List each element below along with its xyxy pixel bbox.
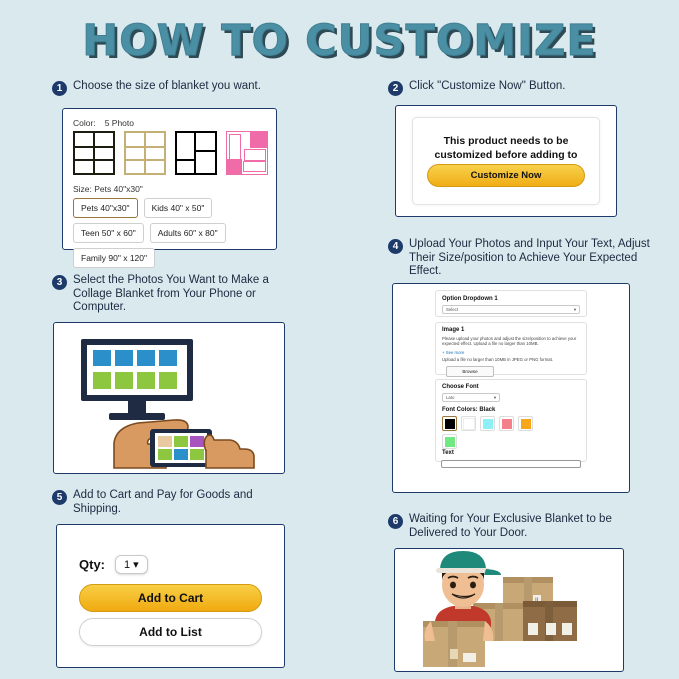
chevron-down-icon: ▾ [133,558,139,571]
size-option-pets[interactable]: Pets 40"x30" [73,198,138,218]
font-color-swatches-row2 [442,434,457,449]
step-6-text: Waiting for Your Exclusive Blanket to be… [409,513,650,540]
step-1-card: Color: 5 Photo [62,108,277,250]
step-4-heading: 4 Upload Your Photos and Input Your Text… [388,238,656,279]
step-2-card: This product needs to be customized befo… [395,105,617,217]
qty-stepper[interactable]: 1 ▾ [115,555,148,574]
font-value: Lato [446,395,454,400]
option-dropdown-block: Option Dropdown 1 Select ▾ [435,290,587,317]
font-settings-block: Choose Font Lato ▾ Font Colors: Black Te… [435,379,587,462]
swatch-green[interactable] [442,434,457,449]
step-3-heading: 3 Select the Photos You Want to Make a C… [52,274,297,315]
qty-label: Qty: [79,557,105,572]
font-colors-label: Font Colors: Black [442,407,495,413]
color-label: Color: [73,118,96,128]
image-description: Please upload your photos and adjust the… [442,336,580,347]
step-5-card: Qty: 1 ▾ Add to Cart Add to List [56,524,285,668]
pattern-thumbnail-4[interactable] [226,131,268,175]
step-1-badge: 1 [52,81,67,96]
chevron-down-icon: ▾ [494,395,496,401]
step-6-badge: 6 [388,514,403,529]
step-4-badge: 4 [388,239,403,254]
size-option-teen[interactable]: Teen 50" x 60" [73,223,144,243]
chevron-down-icon: ▾ [574,307,576,313]
size-label: Size: Pets 40"x30" [73,184,143,194]
infographic-page: HOW TO CUSTOMIZE 1 Choose the size of bl… [0,0,679,679]
add-to-cart-button[interactable]: Add to Cart [79,584,262,612]
swatch-black[interactable] [442,416,457,431]
font-color-swatches-row1 [442,416,533,431]
customize-notice-box: This product needs to be customized befo… [412,117,600,205]
option-dropdown-value: Select [446,307,458,312]
option-dropdown-label: Option Dropdown 1 [442,296,498,302]
color-row: Color: 5 Photo [73,118,134,128]
page-title: HOW TO CUSTOMIZE [0,16,679,66]
step-4-text: Upload Your Photos and Input Your Text, … [409,238,656,279]
step-5-badge: 5 [52,490,67,505]
swatch-orange[interactable] [518,416,533,431]
pattern-thumbnail-2[interactable] [124,131,166,175]
size-option-adults[interactable]: Adults 60" x 80" [150,223,226,243]
size-option-family[interactable]: Family 90" x 120" [73,248,155,268]
step-6-card: II [394,548,624,672]
quantity-row: Qty: 1 ▾ [79,555,148,574]
add-to-list-button[interactable]: Add to List [79,618,262,646]
swatch-pink[interactable] [499,416,514,431]
color-value: 5 Photo [105,118,134,128]
qty-value: 1 [124,559,130,571]
image-upload-block: Image 1 Please upload your photos and ad… [435,322,587,375]
pattern-thumbnail-3[interactable] [175,131,217,175]
step-2-heading: 2 Click "Customize Now" Button. [388,80,658,96]
font-select[interactable]: Lato ▾ [442,393,500,402]
size-options: Pets 40"x30" Kids 40" x 50" Teen 50" x 6… [73,198,269,268]
step-1-text: Choose the size of blanket you want. [73,80,261,94]
photo-selection-illustration [54,323,284,473]
step-3-badge: 3 [52,275,67,290]
swatch-cyan[interactable] [480,416,495,431]
step-2-badge: 2 [388,81,403,96]
text-input[interactable] [441,460,581,468]
size-option-kids[interactable]: Kids 40" x 50" [144,198,213,218]
text-label: Text [442,450,454,456]
delivery-illustration: II [395,549,623,671]
pattern-thumbnails [73,131,268,175]
option-dropdown-select[interactable]: Select ▾ [442,305,580,314]
step-1-heading: 1 Choose the size of blanket you want. [52,80,352,96]
step-2-text: Click "Customize Now" Button. [409,80,565,94]
step-4-card: Option Dropdown 1 Select ▾ Image 1 Pleas… [392,283,630,493]
upload-hint: Upload a file no larger than 10MB in JPE… [442,357,580,362]
see-more-link[interactable]: + See more [442,350,464,355]
step-3-text: Select the Photos You Want to Make a Col… [73,274,297,315]
step-6-heading: 6 Waiting for Your Exclusive Blanket to … [388,513,650,540]
swatch-white[interactable] [461,416,476,431]
step-5-text: Add to Cart and Pay for Goods and Shippi… [73,489,292,516]
choose-font-label: Choose Font [442,384,479,390]
image-label: Image 1 [442,327,464,333]
browse-button[interactable]: Browse [446,366,494,377]
pattern-thumbnail-1[interactable] [73,131,115,175]
step-5-heading: 5 Add to Cart and Pay for Goods and Ship… [52,489,292,516]
customize-now-button[interactable]: Customize Now [427,164,585,187]
step-3-card [53,322,285,474]
